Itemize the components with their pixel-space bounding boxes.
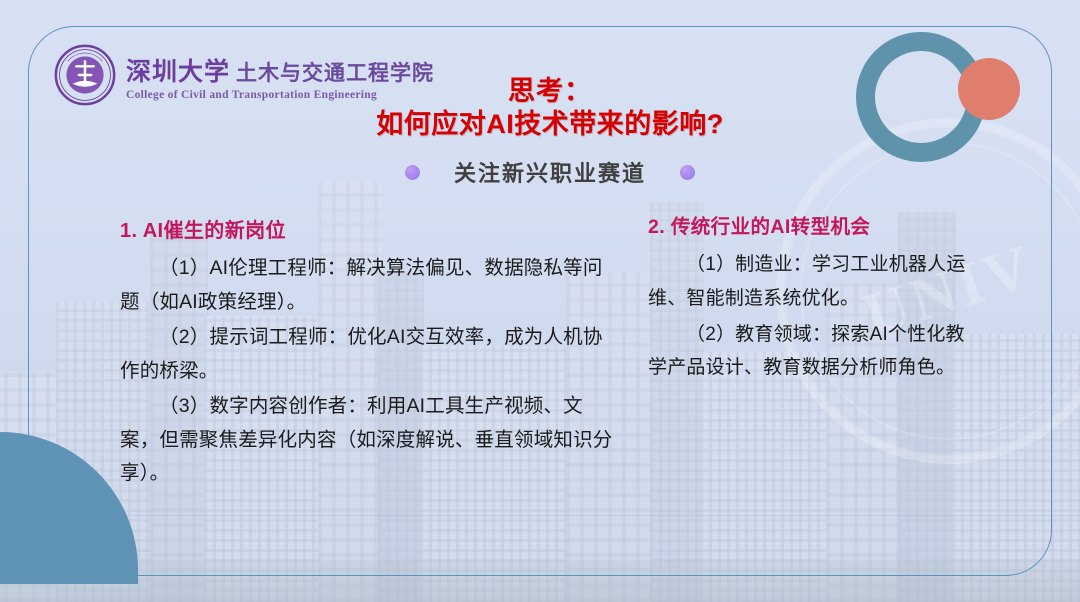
page-subtitle: 关注新兴职业赛道 (454, 156, 646, 188)
column-left-heading: 1. AI催生的新岗位 (120, 214, 620, 243)
column-right-paragraph: （2）教育领域：探索AI个性化教学产品设计、教育数据分析师角色。 (648, 318, 968, 386)
bullet-dot-right-icon (680, 165, 695, 180)
column-right-paragraph: （1）制造业：学习工业机器人运维、智能制造系统优化。 (648, 248, 968, 316)
column-left-paragraph: （1）AI伦理工程师：解决算法偏见、数据隐私等问题（如AI政策经理）。 (120, 252, 620, 319)
page-title-line1: 思考： (360, 76, 740, 108)
shenzhen-university-seal-icon (54, 44, 116, 106)
bullet-dot-left-icon (405, 165, 420, 180)
column-left-paragraph: （3）数字内容创作者：利用AI工具生产视频、文案，但需聚焦差异化内容（如深度解说… (120, 390, 620, 491)
coral-circle-icon (958, 58, 1020, 120)
content-column-left: 1. AI催生的新岗位 （1）AI伦理工程师：解决算法偏见、数据隐私等问题（如A… (120, 214, 620, 493)
subtitle-row: 关注新兴职业赛道 (360, 156, 740, 188)
column-right-heading: 2. 传统行业的AI转型机会 (648, 210, 968, 239)
content-column-right: 2. 传统行业的AI转型机会 （1）制造业：学习工业机器人运维、智能制造系统优化… (648, 210, 968, 387)
slide-canvas: UNIV 深圳大学 土木与交通工程学院 College of Civil and… (0, 0, 1080, 602)
logo-university-name: 深圳大学 (126, 52, 230, 88)
column-left-paragraph: （2）提示词工程师：优化AI交互效率，成为人机协作的桥梁。 (120, 321, 620, 388)
page-title-line2: 如何应对AI技术带来的影响? (360, 108, 740, 140)
title-block: 思考： 如何应对AI技术带来的影响? 关注新兴职业赛道 (360, 76, 740, 188)
